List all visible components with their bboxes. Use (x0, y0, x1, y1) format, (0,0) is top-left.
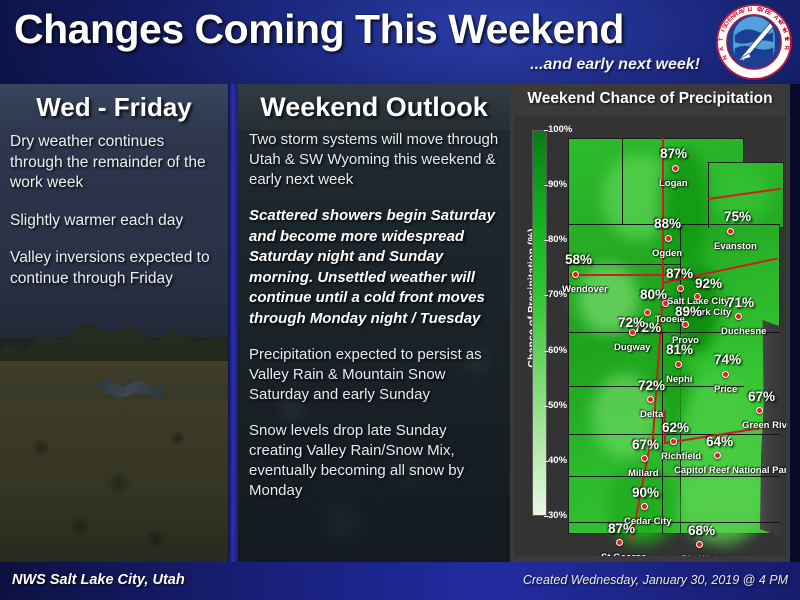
city-name-label: Delta (640, 409, 663, 420)
city-marker (727, 228, 734, 235)
city-marker (670, 438, 677, 445)
map-area: Chance of Precipitation (%) 100%90%80%70… (514, 116, 786, 556)
city-marker (665, 235, 672, 242)
city-name-label: Millard (628, 468, 659, 479)
center-paragraph: Precipitation expected to persist as Val… (249, 345, 499, 405)
precip-value-label: 62% (662, 420, 689, 435)
panel-divider (228, 84, 238, 562)
precip-value-label: 67% (748, 389, 775, 404)
precip-value-label: 87% (608, 521, 635, 536)
precip-value-label: 88% (654, 216, 681, 231)
precip-value-label: 64% (706, 434, 733, 449)
page-subtitle: ...and early next week! (530, 56, 700, 74)
city-name-label: Capitol Reef National Park (674, 465, 786, 476)
city-marker (675, 361, 682, 368)
city-name-label: Green River (742, 420, 786, 431)
precip-value-label: 68% (688, 523, 715, 538)
city-name-label: Richfield (661, 451, 701, 462)
city-name-label: Logan (659, 178, 688, 189)
footer-bar: NWS Salt Lake City, Utah Created Wednesd… (0, 562, 800, 600)
city-marker (672, 165, 679, 172)
left-panel-body: Dry weather continues through the remain… (0, 132, 228, 306)
city-name-label: Dugway (614, 342, 650, 353)
city-marker (641, 503, 648, 510)
city-marker (756, 407, 763, 414)
footer-office: NWS Salt Lake City, Utah (12, 572, 185, 588)
footer-timestamp: Created Wednesday, January 30, 2019 @ 4 … (523, 573, 788, 587)
colorbar (532, 130, 547, 516)
city-name-label: Evanston (714, 241, 757, 252)
precip-value-label: 74% (714, 352, 741, 367)
left-paragraph: Dry weather continues through the remain… (10, 132, 218, 194)
precip-value-label: 72% (638, 378, 665, 393)
precip-value-label: 58% (565, 252, 592, 267)
city-marker (682, 321, 689, 328)
nws-logo-icon: N A T I O N A L W E A T H E R S E (714, 2, 794, 82)
city-name-label: Nephi (666, 374, 692, 385)
center-paragraph: Two storm systems will move through Utah… (249, 130, 499, 190)
left-paragraph: Valley inversions expected to continue t… (10, 248, 218, 289)
precip-value-label: 90% (632, 485, 659, 500)
precip-value-label: 71% (727, 295, 754, 310)
left-paragraph: Slightly warmer each day (10, 211, 218, 232)
city-marker (694, 293, 701, 300)
precipitation-map-panel: Weekend Chance of Precipitation Chance o… (510, 84, 790, 562)
precip-value-label: 92% (695, 276, 722, 291)
city-marker (572, 271, 579, 278)
precip-value-label: 75% (724, 209, 751, 224)
city-name-label: Price (714, 384, 737, 395)
city-marker (735, 313, 742, 320)
city-marker (696, 541, 703, 548)
left-panel-title: Wed - Friday (0, 84, 228, 130)
page-title: Changes Coming This Weekend (14, 6, 624, 53)
city-marker (722, 371, 729, 378)
city-marker (714, 452, 721, 459)
header-banner: Changes Coming This Weekend ...and early… (0, 0, 800, 84)
center-paragraph: Snow levels drop late Sunday creating Va… (249, 421, 499, 501)
precip-value-label: 67% (632, 437, 659, 452)
city-name-label: Duchesne (721, 326, 766, 337)
precip-value-label: 87% (660, 146, 687, 161)
city-name-label: Wendover (562, 284, 608, 295)
center-paragraph-emphasis: Scattered showers begin Saturday and bec… (249, 206, 499, 329)
center-panel-title: Weekend Outlook (238, 84, 510, 130)
map-title: Weekend Chance of Precipitation (510, 90, 790, 108)
precip-value-label: 72% (618, 315, 645, 330)
city-marker (647, 396, 654, 403)
precip-value-label: 81% (666, 342, 693, 357)
center-panel-body: Two storm systems will move through Utah… (238, 130, 510, 517)
city-name-label: St George (601, 552, 646, 556)
precip-value-label: 80% (640, 287, 667, 302)
precip-value-label: 87% (666, 266, 693, 281)
precip-value-label: 89% (675, 304, 702, 319)
weather-graphic-slide: Changes Coming This Weekend ...and early… (0, 0, 800, 600)
city-marker (616, 539, 623, 546)
city-name-label: Ogden (652, 248, 682, 259)
city-marker (677, 285, 684, 292)
city-marker (641, 455, 648, 462)
city-name-label: Big Water (681, 554, 725, 556)
